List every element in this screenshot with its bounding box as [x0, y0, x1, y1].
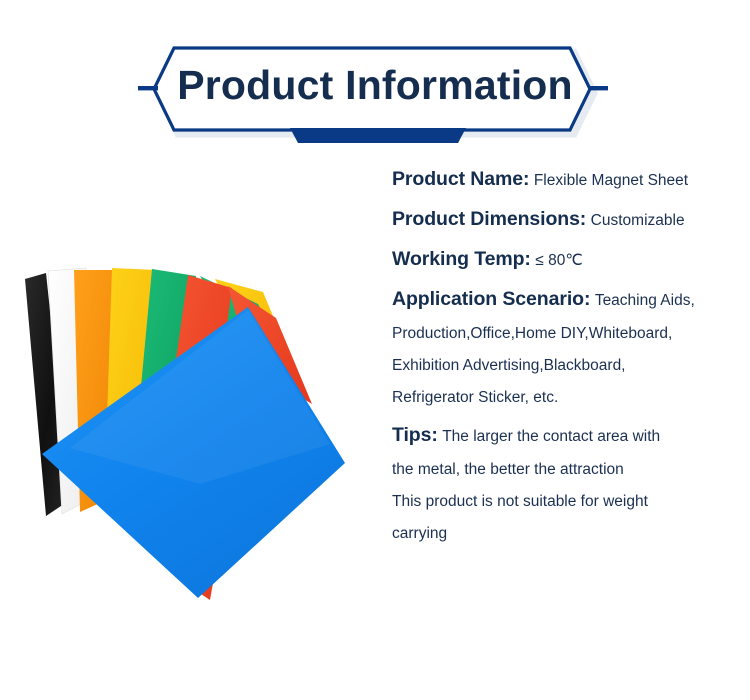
spec-value-line: Exhibition Advertising,Blackboard,	[392, 357, 742, 375]
page-title: Product Information	[0, 44, 750, 126]
spec-value-line: carrying	[392, 525, 742, 543]
spec-row-tips: Tips: The larger the contact area with t…	[392, 424, 742, 543]
spec-value-line: the metal, the better the attraction	[392, 461, 742, 479]
spec-label: Tips:	[392, 424, 438, 446]
spec-label: Working Temp:	[392, 248, 531, 270]
spec-label: Application Scenario:	[392, 288, 590, 310]
spec-value: Customizable	[591, 212, 685, 229]
spec-row-product-dimensions: Product Dimensions: Customizable	[392, 208, 742, 231]
spec-value-line: Production,Office,Home DIY,Whiteboard,	[392, 325, 742, 343]
spec-value-line: Refrigerator Sticker, etc.	[392, 389, 742, 407]
spec-value-line: This product is not suitable for weight	[392, 493, 742, 511]
spec-value: Flexible Magnet Sheet	[534, 172, 688, 189]
magnet-sheet-fan-illustration	[0, 248, 350, 618]
spec-row-product-name: Product Name: Flexible Magnet Sheet	[392, 168, 742, 191]
product-spec-list: Product Name: Flexible Magnet Sheet Prod…	[392, 168, 742, 560]
banner-bottom-tab	[290, 128, 466, 143]
spec-row-application-scenario: Application Scenario: Teaching Aids, Pro…	[392, 288, 742, 407]
spec-label: Product Dimensions:	[392, 208, 586, 230]
spec-value: ≤ 80℃	[535, 252, 582, 269]
spec-label: Product Name:	[392, 168, 529, 190]
header-banner: Product Information	[0, 44, 750, 144]
spec-value: The larger the contact area with	[442, 428, 660, 445]
spec-value: Teaching Aids,	[595, 292, 695, 309]
spec-row-working-temp: Working Temp: ≤ 80℃	[392, 248, 742, 271]
product-photo	[0, 248, 350, 618]
